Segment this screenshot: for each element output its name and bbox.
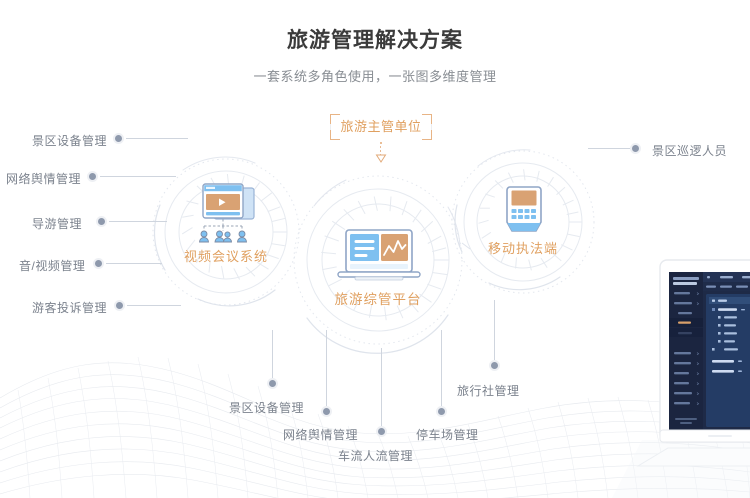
side-label-right-1: 景区巡逻人员	[652, 142, 727, 159]
connector-line-left-3	[109, 221, 167, 222]
bottom-label-5: 旅行社管理	[457, 382, 520, 399]
connector-line-left-4	[106, 263, 162, 264]
connector-line-bottom-5	[494, 300, 495, 360]
connector-line-left-1	[126, 138, 188, 139]
side-label-left-2: 网络舆情管理	[6, 170, 81, 187]
connector-line-bottom-3	[381, 348, 382, 426]
bottom-label-3: 车流人流管理	[338, 447, 413, 464]
side-label-left-3: 导游管理	[32, 215, 82, 232]
node-label-tourism-platform: 旅游综管平台	[308, 288, 448, 308]
laptop-dashboard-icon	[333, 228, 425, 286]
connector-dot-right-1[interactable]	[630, 143, 641, 154]
connector-dot-bottom-2[interactable]	[321, 406, 332, 417]
connector-line-bottom-2	[326, 330, 327, 406]
connector-dot-left-1[interactable]	[113, 133, 124, 144]
connector-dot-bottom-1[interactable]	[267, 378, 278, 389]
bottom-label-2: 网络舆情管理	[283, 426, 358, 443]
video-window-icon	[192, 182, 262, 244]
connector-dot-bottom-5[interactable]	[489, 360, 500, 371]
connector-dot-bottom-3[interactable]	[376, 426, 387, 437]
connector-dot-left-2[interactable]	[87, 171, 98, 182]
connector-line-right-1	[588, 148, 630, 149]
solution-diagram-page: 旅游管理解决方案 一套系统多角色使用，一张图多维度管理 旅游主管单位	[0, 0, 750, 498]
bottom-label-1: 景区设备管理	[229, 399, 304, 416]
handheld-device-icon	[503, 184, 545, 242]
node-label-mobile-enforcement: 移动执法端	[453, 238, 593, 257]
connector-line-left-2	[100, 176, 176, 177]
connector-dot-left-4[interactable]	[93, 258, 104, 269]
connector-line-left-5	[127, 305, 181, 306]
node-label-video-conference: 视频会议系统	[156, 246, 296, 265]
connector-dot-left-5[interactable]	[114, 300, 125, 311]
bottom-label-4: 停车场管理	[416, 426, 479, 443]
connector-dot-left-3[interactable]	[96, 216, 107, 227]
connector-line-bottom-4	[441, 330, 442, 406]
side-label-left-5: 游客投诉管理	[32, 299, 107, 316]
side-label-left-4: 音/视频管理	[19, 257, 85, 274]
side-label-left-1: 景区设备管理	[32, 132, 107, 149]
connector-line-bottom-1	[272, 330, 273, 378]
laptop-dashboard-mockup	[612, 252, 750, 498]
connector-dot-bottom-4[interactable]	[436, 406, 447, 417]
